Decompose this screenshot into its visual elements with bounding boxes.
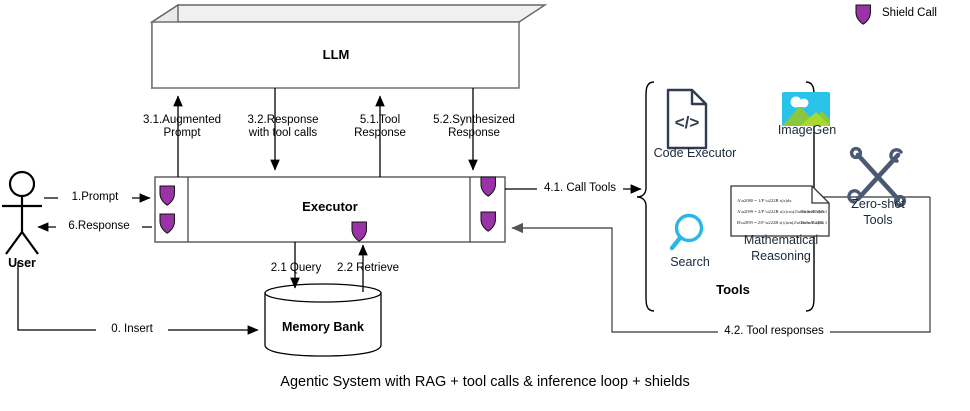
edge-insert xyxy=(18,262,258,330)
tool-label-search: Search xyxy=(660,255,720,270)
tool-label-code-executor: Code Executor xyxy=(645,146,745,161)
svg-text:A\u2080 = 1/P \u222B s(x)dx: A\u2080 = 1/P \u222B s(x)dx xyxy=(737,198,792,203)
edge-label-prompt: 1.Prompt xyxy=(58,191,132,204)
magnifier-icon[interactable] xyxy=(672,216,702,249)
tools-group-label: Tools xyxy=(700,283,766,297)
edge-label-query: 2.1 Query xyxy=(263,262,329,275)
executor-label: Executor xyxy=(250,200,410,214)
edge-label-retrieve: 2.2 Retrieve xyxy=(331,262,405,275)
svg-text:</>: </> xyxy=(675,113,700,132)
image-photo-icon[interactable] xyxy=(782,92,830,126)
user-node[interactable] xyxy=(2,172,42,254)
tool-label-zero-shot-tools: Zero-shot Tools xyxy=(840,196,916,228)
edge-label-tool-response: 5.1.Tool Response xyxy=(340,114,420,140)
edge-label-call-tools: 4.1. Call Tools xyxy=(537,182,623,195)
edge-label-response-tool-calls: 3.2.Response with tool calls xyxy=(232,114,334,140)
edge-label-tool-responses: 4.2. Tool responses xyxy=(718,325,830,338)
diagram-caption: Agentic System with RAG + tool calls & i… xyxy=(0,374,970,390)
svg-text:for n \u2265 1: for n \u2265 1 xyxy=(801,220,828,225)
edge-label-response: 6.Response xyxy=(56,220,142,233)
edge-label-synthesized-response: 5.2.Synthesized Response xyxy=(424,114,524,140)
user-label: User xyxy=(0,256,52,270)
tool-label-mathematical-reasoning: Mathematical Reasoning xyxy=(733,232,829,264)
llm-label: LLM xyxy=(252,48,420,62)
svg-text:for n \u2265 1: for n \u2265 1 xyxy=(801,209,828,214)
edge-label-augmented-prompt: 3.1.Augmented Prompt xyxy=(136,114,228,140)
edge-label-insert: 0. Insert xyxy=(96,323,168,336)
diagram-canvas: </> A\u2080 = 1/P \u222B s(x)dx xyxy=(0,0,970,411)
formula-document-icon[interactable]: A\u2080 = 1/P \u222B s(x)dx A\u2099 = 2/… xyxy=(731,186,829,236)
legend-shield-call-label: Shield Call xyxy=(882,7,937,19)
tool-label-imagegen: ImageGen xyxy=(768,123,846,138)
code-document-icon[interactable]: </> xyxy=(668,90,706,148)
diagram-vector-layer: </> A\u2080 = 1/P \u222B s(x)dx xyxy=(0,0,970,411)
shield-icon xyxy=(856,5,870,24)
memory-bank-label: Memory Bank xyxy=(263,320,383,334)
